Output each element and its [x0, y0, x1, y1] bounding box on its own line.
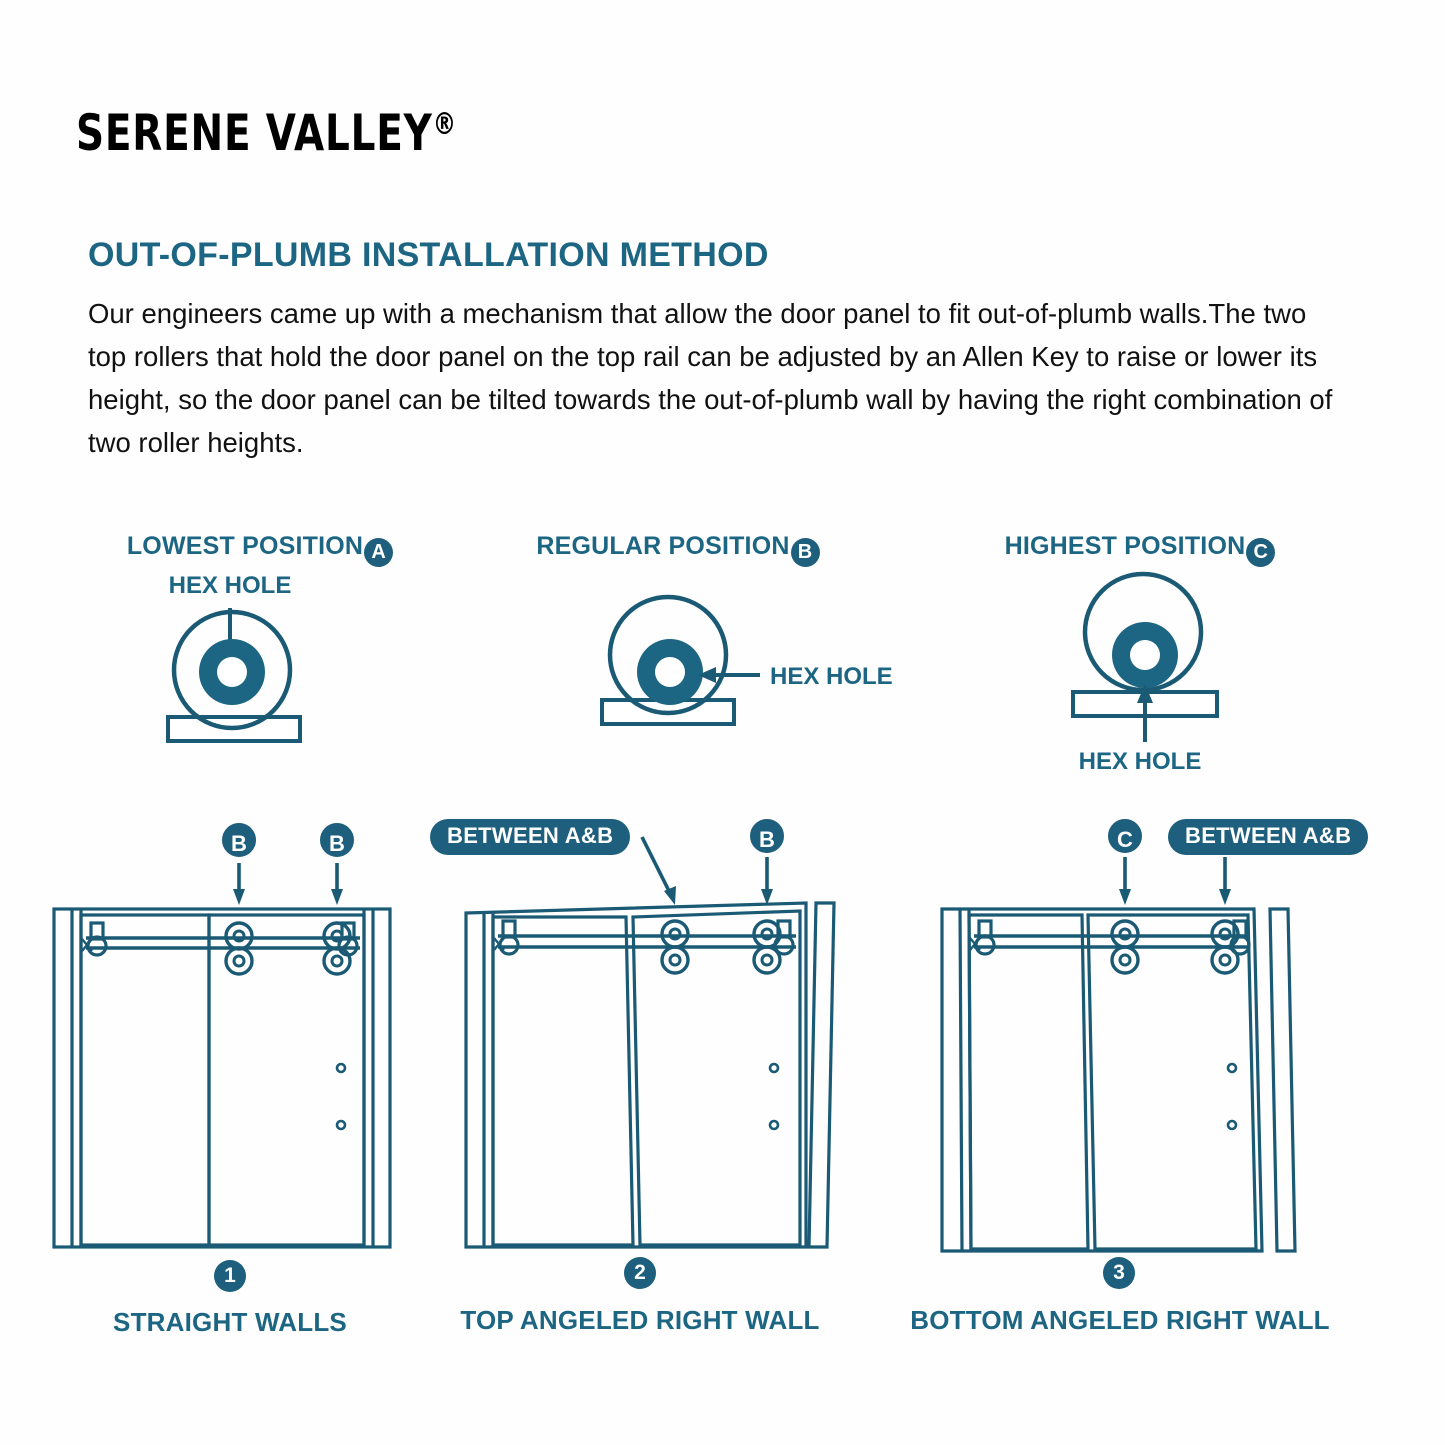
roller-upper-left	[1112, 921, 1138, 947]
registered-mark-icon: ®	[433, 107, 456, 142]
panel-hole-lower	[770, 1121, 778, 1129]
roller-upper-left-hub	[670, 929, 680, 939]
marker-arrow-left-head	[233, 889, 245, 905]
roller-upper-right-hub	[1220, 929, 1230, 939]
diagram-number-badge-3: 3	[1103, 1257, 1135, 1289]
roller-card-lowest: LOWEST POSITIONA HEX HOLE	[60, 520, 460, 810]
roller-card-highest: HIGHEST POSITIONC HEX HOLE	[975, 520, 1375, 810]
roller-illustration-highest	[975, 520, 1375, 810]
panel-hole-upper	[337, 1064, 345, 1072]
roller-lower-right-hub	[762, 955, 772, 965]
roller-illustration-regular	[498, 520, 918, 810]
enclosure-outline	[942, 909, 1262, 1251]
diagram-number-badge-1: 1	[214, 1260, 246, 1292]
diagram-caption-3: BOTTOM ANGELED RIGHT WALL	[870, 1305, 1370, 1336]
marker-arrow-left-head	[1119, 889, 1131, 905]
door-diagrams-row: B B	[0, 805, 1445, 1365]
roller-upper-right	[754, 921, 780, 947]
roller-upper-left	[662, 921, 688, 947]
roller-lower-right	[1212, 947, 1238, 973]
roller-upper-left-hub	[1120, 929, 1130, 939]
roller-lower-left-hub	[670, 955, 680, 965]
roller-lower-left	[1112, 947, 1138, 973]
roller-lower-right	[754, 947, 780, 973]
fixed-panel	[81, 915, 209, 1245]
roller-card-regular: REGULAR POSITIONB HEX HOLE	[498, 520, 918, 810]
hex-hole-bore	[1130, 640, 1160, 670]
hex-hole-bore	[655, 657, 685, 687]
hex-hole-bore	[217, 657, 247, 687]
roller-lower-left	[662, 947, 688, 973]
panel-hole-lower	[337, 1121, 345, 1129]
diagram-caption-2: TOP ANGELED RIGHT WALL	[430, 1305, 850, 1336]
roller-lower-left-hub	[1120, 955, 1130, 965]
diagram-caption-1: STRAIGHT WALLS	[40, 1307, 420, 1338]
panel-hole-upper	[1228, 1064, 1236, 1072]
marker-arrow-right-head	[331, 889, 343, 905]
right-angled-jamb	[809, 903, 834, 1247]
roller-lower-right-hub	[332, 956, 342, 966]
roller-upper-right-hub	[762, 929, 772, 939]
roller-upper-left	[226, 923, 252, 949]
page-title: OUT-OF-PLUMB INSTALLATION METHOD	[88, 236, 769, 275]
brand-name: SERENE VALLEY	[76, 104, 433, 162]
roller-upper-right-hub	[332, 931, 342, 941]
diagram-number-badge-2: 2	[624, 1257, 656, 1289]
roller-lower-right	[324, 948, 350, 974]
brand-logo: SERENE VALLEY®	[76, 104, 456, 162]
roller-positions-row: LOWEST POSITIONA HEX HOLE REGULAR POSITI…	[0, 520, 1445, 810]
roller-lower-right-hub	[1220, 955, 1230, 965]
roller-upper-left-hub	[234, 931, 244, 941]
enclosure-outline	[54, 909, 390, 1247]
roller-lower-left	[226, 948, 252, 974]
marker-arrow-right-head	[1219, 889, 1231, 905]
fixed-panel	[969, 915, 1088, 1249]
right-angled-jamb	[1270, 909, 1295, 1251]
roller-lower-left-hub	[234, 956, 244, 966]
panel-hole-lower	[1228, 1121, 1236, 1129]
marker-leader-left-head	[664, 886, 676, 905]
roller-illustration-lowest	[60, 520, 460, 810]
intro-paragraph: Our engineers came up with a mechanism t…	[88, 292, 1350, 464]
infographic-page: SERENE VALLEY® OUT-OF-PLUMB INSTALLATION…	[0, 0, 1445, 1445]
left-jamb-inner-line	[960, 909, 962, 1251]
fixed-panel	[493, 917, 633, 1245]
sliding-panel	[633, 911, 800, 1245]
panel-hole-upper	[770, 1064, 778, 1072]
marker-leader-left-line	[642, 837, 670, 893]
